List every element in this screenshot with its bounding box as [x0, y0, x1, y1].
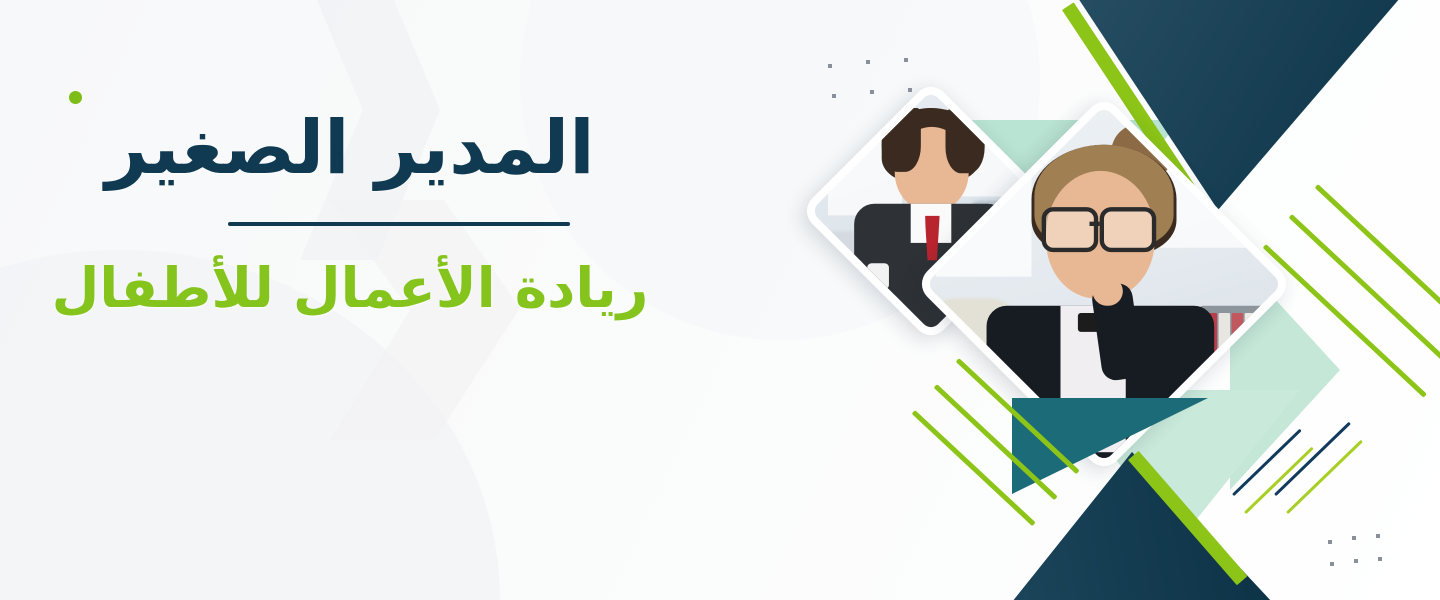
green-diagonal-line [934, 384, 1058, 500]
green-diagonal-line [1244, 447, 1314, 514]
title-underline [228, 222, 570, 226]
artwork-composition [760, 0, 1440, 600]
bullet-dot [69, 91, 82, 104]
green-diagonal-line [912, 410, 1036, 526]
mixed-line-group-corner [1230, 400, 1440, 540]
glasses-left-lens [1042, 207, 1098, 252]
promo-banner: المدير الصغير ريادة الأعمال للأطفال [0, 0, 1440, 600]
green-diagonal-line [1286, 440, 1363, 514]
green-diagonal-line [956, 358, 1080, 474]
page-subtitle: ريادة الأعمال للأطفال [0, 258, 700, 319]
glasses-right-lens [1100, 207, 1156, 252]
background-chevron-shape-lower [330, 200, 520, 440]
headline-block: المدير الصغير ريادة الأعمال للأطفال [0, 110, 700, 194]
page-title: المدير الصغير [105, 110, 594, 194]
glasses-bridge [1089, 222, 1100, 226]
navy-diagonal-line [1232, 429, 1302, 496]
green-diagonal-line [1315, 184, 1440, 338]
green-line-group-right [1230, 190, 1440, 390]
green-line-group-left [945, 358, 1125, 528]
